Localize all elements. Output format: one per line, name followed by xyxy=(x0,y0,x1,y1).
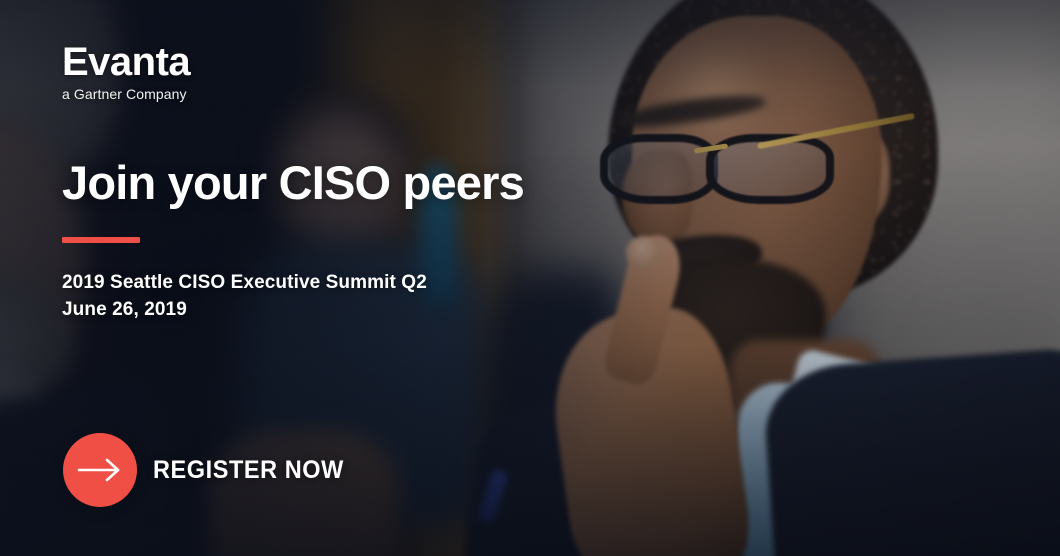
logo-tagline: a Gartner Company xyxy=(62,87,190,101)
event-promo-banner: Evanta a Gartner Company Join your CISO … xyxy=(0,0,1060,556)
accent-rule xyxy=(62,237,140,243)
evanta-logo[interactable]: Evanta a Gartner Company xyxy=(62,42,190,101)
hero-headline: Join your CISO peers xyxy=(62,159,524,208)
logo-wordmark: Evanta xyxy=(62,42,190,82)
event-details: 2019 Seattle CISO Executive Summit Q2 Ju… xyxy=(62,270,427,324)
arrow-right-icon[interactable] xyxy=(63,433,137,507)
register-now-button[interactable]: REGISTER NOW xyxy=(63,433,356,507)
event-name: 2019 Seattle CISO Executive Summit Q2 xyxy=(62,270,427,297)
event-date: June 26, 2019 xyxy=(62,297,427,324)
register-now-label: REGISTER NOW xyxy=(153,456,344,485)
